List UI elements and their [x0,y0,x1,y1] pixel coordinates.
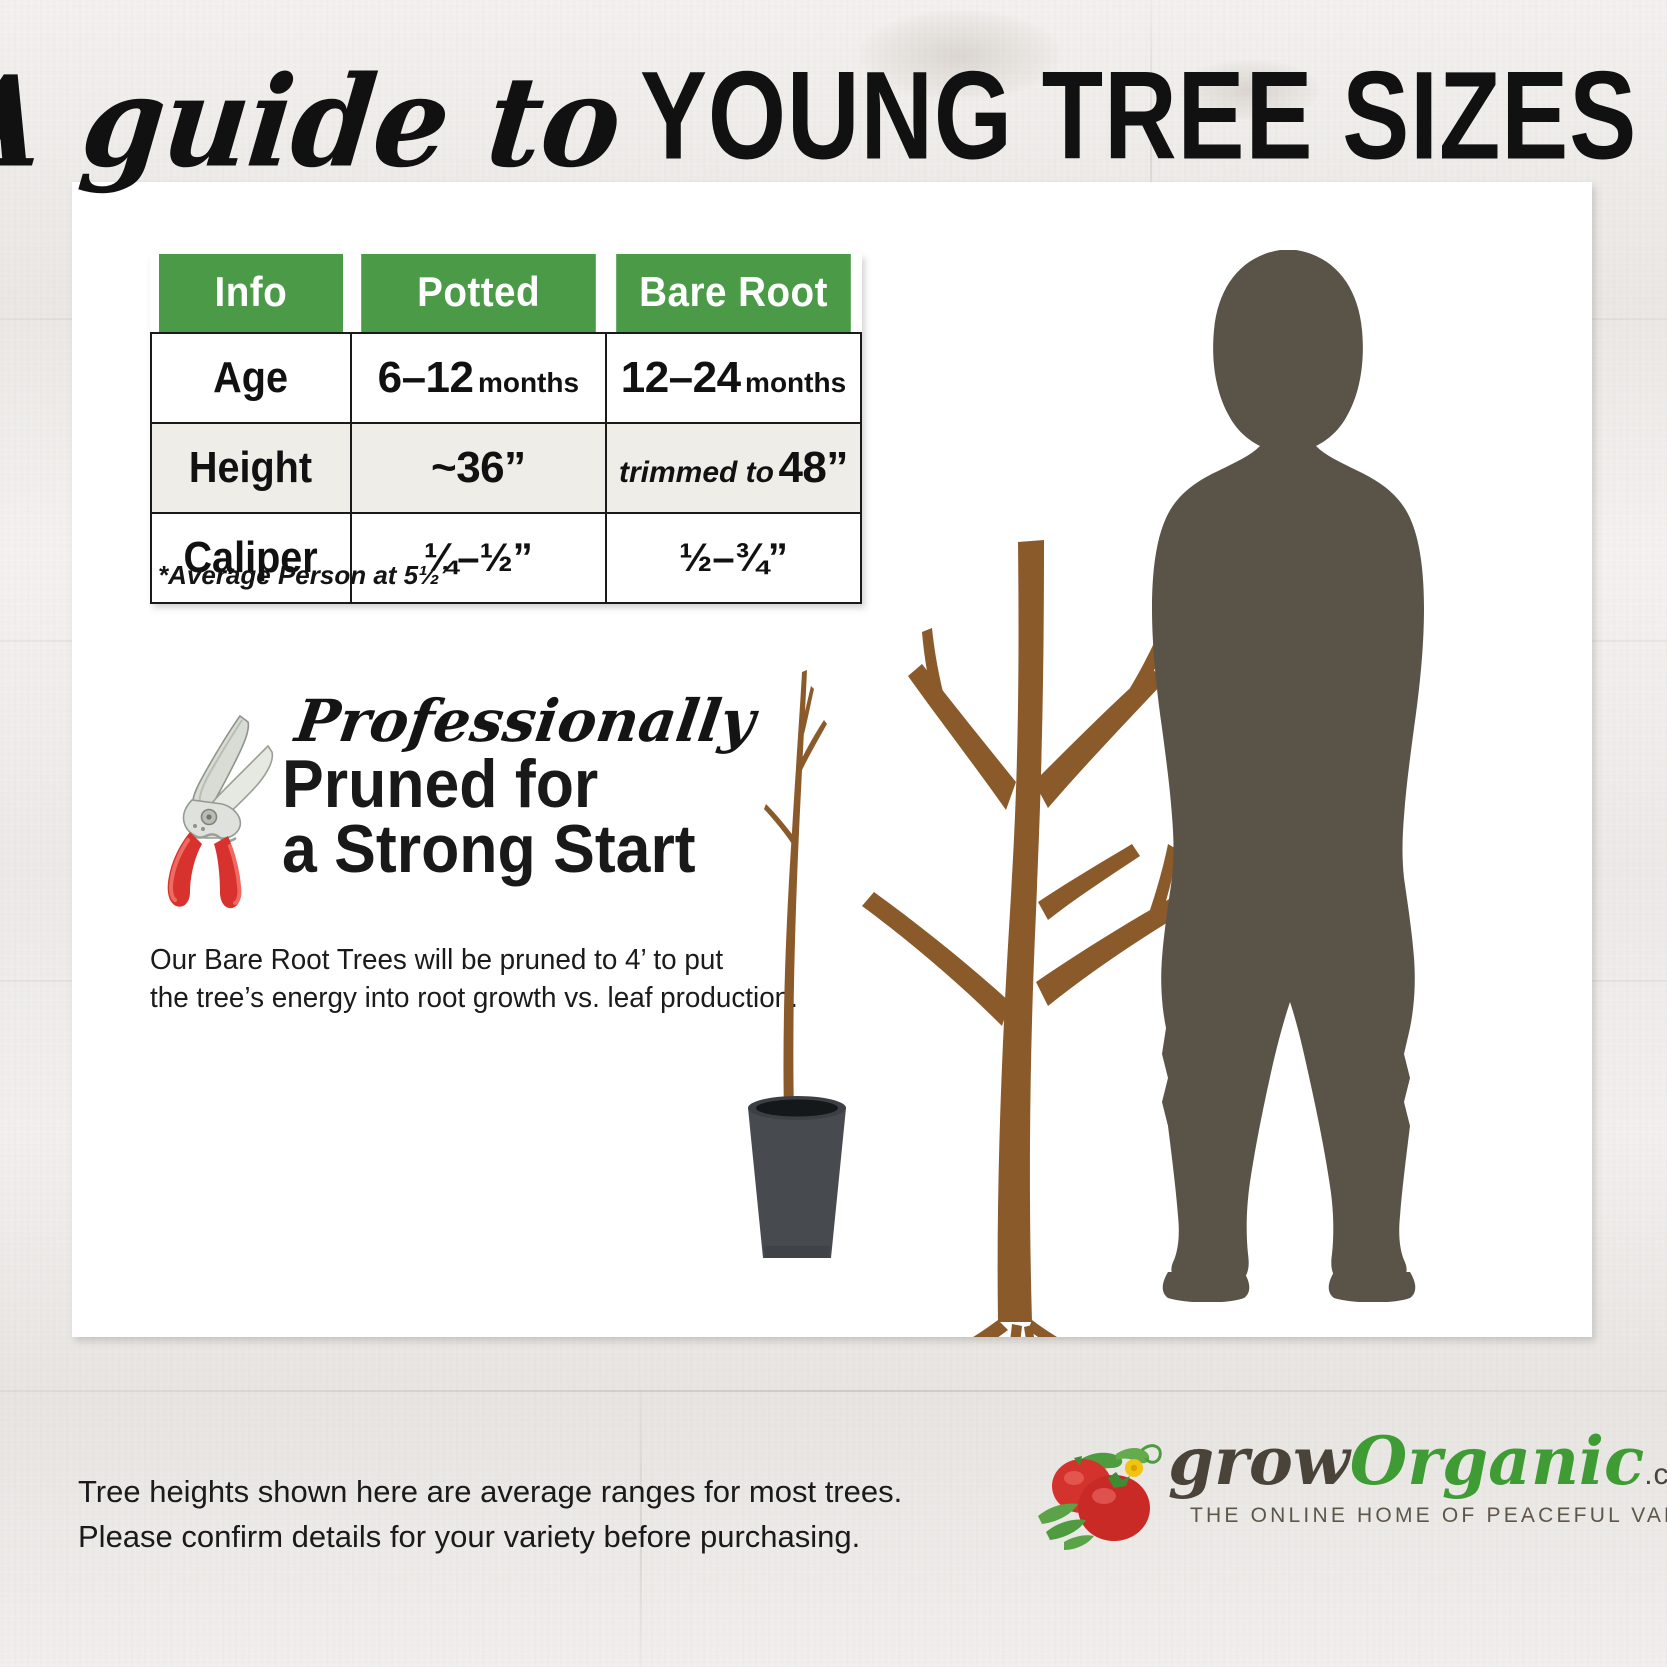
average-person-silhouette [1132,242,1452,1302]
grow-organic-logo[interactable]: growOrganic.com THE ONLINE HOME OF PEACE… [1030,1400,1590,1580]
logo-tagline: THE ONLINE HOME OF PEACEFUL VALLEY [1190,1504,1667,1528]
page-title: A guide to YOUNG TREE SIZES [72,48,1592,178]
pruning-headline: Pruned for a Strong Start [282,752,742,883]
logo-word-com: .com [1644,1458,1667,1491]
logo-wordmark: growOrganic.com [1168,1428,1667,1494]
plank-seam [0,1390,1667,1392]
table-header-info: Info [159,254,343,333]
table-cell-age-bare-root: 12–24 months [606,333,861,423]
row-label-age: Age [213,353,288,403]
pruning-shears-icon [162,704,302,914]
table-cell-height-potted: ~36” [351,423,606,513]
table-footnote: *Average Person at 5½’ [158,560,447,591]
logo-word-organic: Organic [1350,1422,1644,1500]
pruning-body-text: Our Bare Root Trees will be pruned to 4’… [150,942,798,1017]
age-bare-value: 12–24 [621,353,741,402]
table-row: Age 6–12 months 12–24 months [151,333,861,423]
age-potted-unit: months [478,367,579,398]
table-cell-age-potted: 6–12 months [351,333,606,423]
content-card: Info Potted Bare Root Age 6–12 months 12… [72,182,1592,1337]
table-cell-row-label: Age [151,333,351,423]
age-potted-value: 6–12 [378,353,474,402]
footer-disclaimer: Tree heights shown here are average rang… [78,1470,902,1560]
height-potted-value: ~36” [431,443,526,492]
height-bare-prefix: trimmed to [619,456,774,489]
logo-word-grow: grow [1168,1422,1350,1500]
tomato-vine-icon [1030,1424,1180,1554]
title-script-part: A guide to [0,63,646,182]
tree-root-system [822,1320,1216,1337]
title-block-part: YOUNG TREE SIZES [640,53,1637,178]
table-header-potted: Potted [361,254,596,333]
table-header-row: Info Potted Bare Root [151,254,861,333]
row-label-height: Height [189,443,312,493]
pruning-text-group: Professionally Pruned for a Strong Start [282,692,782,883]
table-cell-row-label: Height [151,423,351,513]
table-row: Height ~36” trimmed to 48” [151,423,861,513]
age-bare-unit: months [745,367,846,398]
table-header-bare-root: Bare Root [616,254,851,333]
